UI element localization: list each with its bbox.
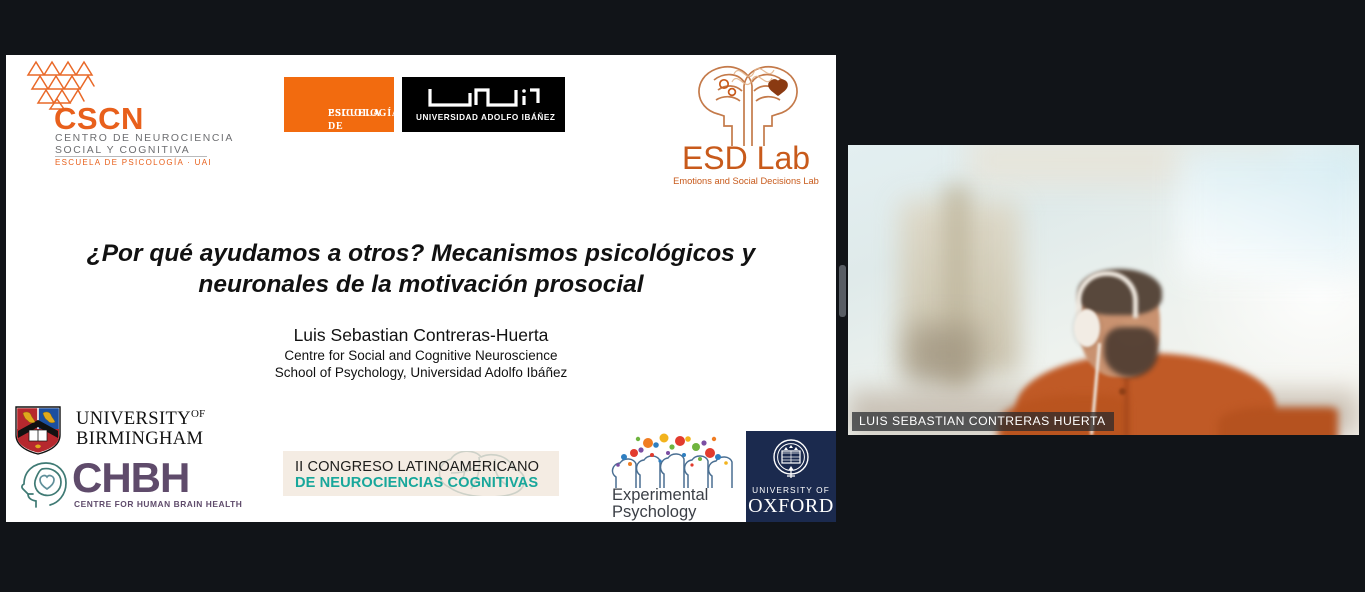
escuela-line2: PSICOLOGÍA [328, 107, 400, 120]
cscn-fullname: CENTRO DE NEUROCIENCIA SOCIAL Y COGNITIV… [55, 133, 234, 156]
oxford-crest-icon [767, 436, 815, 484]
uai-caption: UNIVERSIDAD ADOLFO IBÁÑEZ [416, 113, 555, 122]
presenter-beard [1104, 327, 1158, 377]
cscn-acronym: CSCN [54, 103, 144, 134]
birmingham-line2: BIRMINGHAM [76, 429, 203, 450]
panel-resize-handle[interactable] [839, 265, 846, 317]
presenter-video-tile[interactable]: LUIS SEBASTIAN CONTRERAS HUERTA [848, 145, 1359, 435]
slide-affiliation: Centre for Social and Cognitive Neurosci… [46, 347, 796, 381]
heads-with-colored-dots-icon [608, 431, 744, 489]
congress-line1: II CONGRESO LATINOAMERICANO [295, 459, 539, 475]
two-heads-brain-icon [674, 60, 822, 148]
presenter-shirt-placket [1124, 377, 1129, 435]
university-of-oxford-logo: UNIVERSITY OF OXFORD [746, 431, 836, 522]
cscn-fullname-line2: SOCIAL Y COGNITIVA [55, 145, 234, 157]
birmingham-university-word: UNIVERSITY [76, 409, 191, 429]
oxford-line2: OXFORD [746, 495, 836, 518]
slide-title-line1: ¿Por qué ayudamos a otros? Mecanismos ps… [87, 240, 755, 267]
birmingham-of-word: OF [191, 408, 205, 420]
slide-title-line2: neuronales de la motivación prosocial [198, 271, 643, 298]
cscn-logo: CSCN CENTRO DE NEUROCIENCIA SOCIAL Y COG… [14, 59, 224, 154]
headphone-earcup-icon [1074, 309, 1100, 347]
chbh-subtitle: CENTRE FOR HUMAN BRAIN HEALTH [74, 499, 242, 509]
presenter-arm [1218, 407, 1338, 435]
oxford-line1: UNIVERSITY OF [746, 485, 836, 495]
escuela-psicologia-logo: ESCUELA DE PSICOLOGÍA [284, 77, 394, 132]
affiliation-line2: School of Psychology, Universidad Adolfo… [46, 364, 796, 381]
slide-title: ¿Por qué ayudamos a otros? Mecanismos ps… [46, 238, 796, 300]
cscn-divider [55, 156, 207, 157]
esd-lab-title: ESD Lab [656, 142, 836, 174]
birmingham-line1: UNIVERSITYOF [76, 408, 205, 430]
slide-author: Luis Sebastian Contreras-Huerta [46, 325, 796, 346]
shared-slide[interactable]: CSCN CENTRO DE NEUROCIENCIA SOCIAL Y COG… [6, 55, 836, 522]
video-shelf-lower-blur [908, 325, 978, 385]
affiliation-line1: Centre for Social and Cognitive Neurosci… [46, 347, 796, 364]
birmingham-crest-icon [14, 405, 62, 455]
experimental-psychology-line2: Psychology [612, 503, 696, 522]
cscn-school-line: ESCUELA DE PSICOLOGÍA · UAI [55, 158, 212, 167]
congress-line2: DE NEUROCIENCIAS COGNITIVAS [295, 475, 538, 491]
shirt-button [1119, 388, 1126, 395]
uai-wordmark-icon [426, 88, 544, 110]
chbh-logo: CHBH CENTRE FOR HUMAN BRAIN HEALTH [14, 455, 219, 515]
esd-lab-logo: ESD Lab Emotions and Social Decisions La… [656, 60, 836, 192]
head-with-heart-brain-icon [16, 459, 68, 509]
esd-lab-subtitle: Emotions and Social Decisions Lab [656, 176, 836, 186]
experimental-psychology-logo: Experimental Psychology [606, 431, 746, 521]
university-of-birmingham-logo: UNIVERSITYOF BIRMINGHAM [12, 403, 227, 455]
video-window-light [1178, 145, 1359, 275]
chbh-acronym: CHBH [72, 455, 189, 501]
participant-name-label: LUIS SEBASTIAN CONTRERAS HUERTA [852, 412, 1114, 431]
congress-banner: II CONGRESO LATINOAMERICANO DE NEUROCIEN… [283, 451, 559, 496]
uai-logo: UNIVERSIDAD ADOLFO IBÁÑEZ [402, 77, 565, 132]
cscn-fullname-line1: CENTRO DE NEUROCIENCIA [55, 133, 234, 145]
